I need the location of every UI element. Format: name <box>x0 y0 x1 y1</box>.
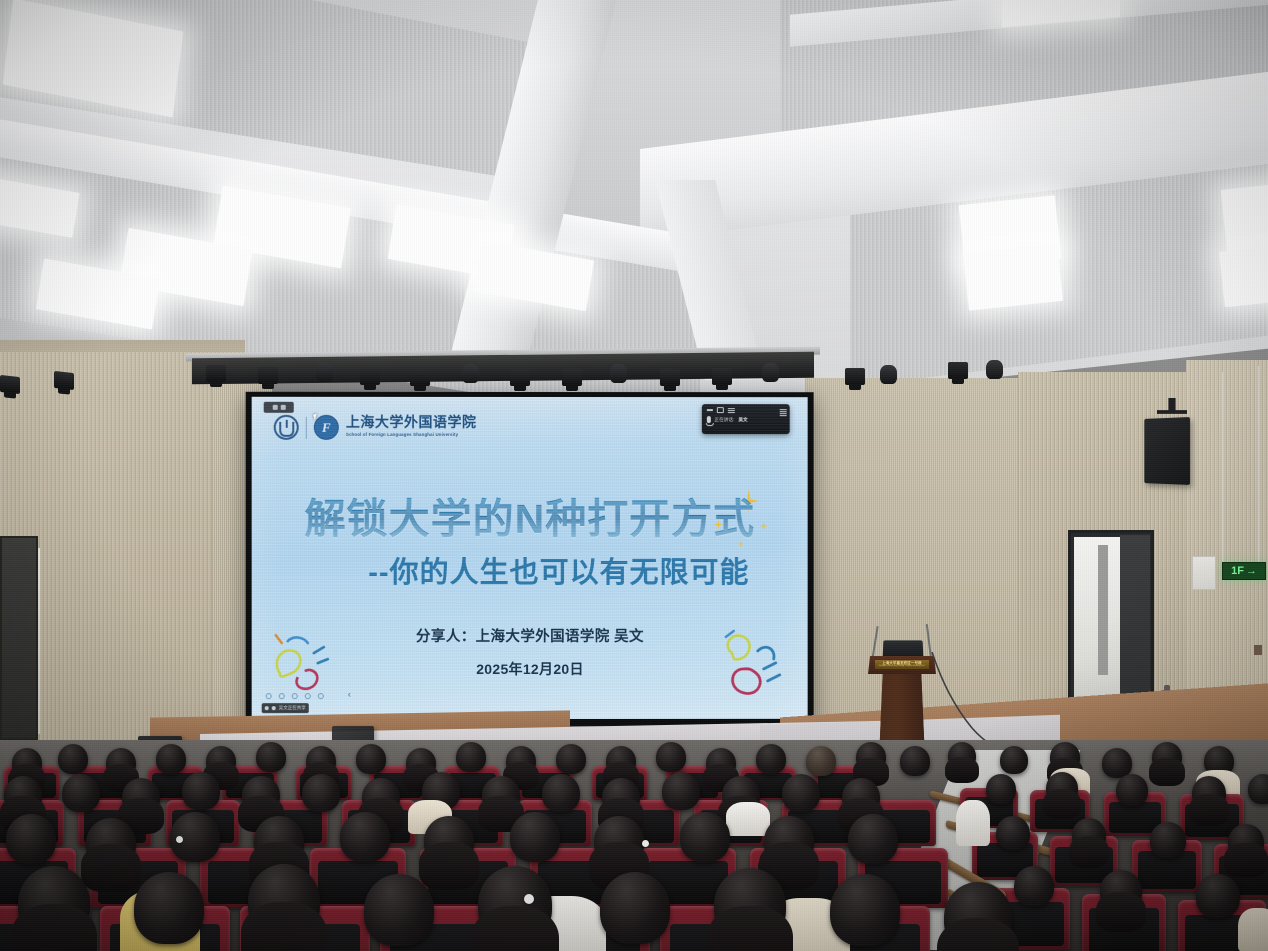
audience-head <box>756 744 786 774</box>
wall-access-plate <box>1192 556 1216 590</box>
audience-head <box>600 872 670 944</box>
audience-head <box>356 744 386 774</box>
exit-sign-arrow-icon: → <box>1246 566 1257 577</box>
hanging-wire <box>1222 372 1223 564</box>
meeting-control-overlay[interactable]: 正在讲话: 吴文 <box>702 404 790 434</box>
exit-sign: 1F → <box>1222 562 1266 580</box>
audience-head <box>62 774 100 812</box>
slide-tool-icon[interactable] <box>266 693 272 699</box>
podium-laptop <box>883 640 924 657</box>
audience-head <box>714 868 786 942</box>
audience-head <box>306 746 336 776</box>
stage-spotlight <box>948 362 968 379</box>
audience-head <box>106 748 136 778</box>
audience-head <box>58 744 88 774</box>
meeting-window-controls[interactable] <box>702 404 790 413</box>
badge-square-icon <box>272 405 277 410</box>
audience-head <box>680 812 730 862</box>
audience-head <box>242 776 280 814</box>
share-status-label: 吴文正在共享 <box>279 705 306 711</box>
layout-icon[interactable] <box>780 409 787 416</box>
audience-head <box>12 748 42 778</box>
microphone-icon <box>707 416 710 423</box>
audience-head <box>1014 866 1054 906</box>
audience-head <box>662 772 700 810</box>
logo-divider <box>306 416 307 438</box>
slide-bottom-icon-row[interactable] <box>266 693 324 699</box>
slide-subtitle: --你的人生也可以有无限可能 <box>252 549 808 591</box>
audience-head <box>948 742 976 770</box>
slide-tool-icon[interactable] <box>305 693 311 699</box>
stage-spotlight <box>0 375 20 394</box>
audience-head <box>996 816 1030 850</box>
speaking-person-name: 吴文 <box>738 417 747 423</box>
audience-head <box>362 778 400 816</box>
exit-sign-floor-label: 1F <box>1231 566 1244 577</box>
slide-share-status-bar: 吴文正在共享 <box>262 703 309 713</box>
stage-spotlight <box>880 365 897 384</box>
slide-tool-icon[interactable] <box>279 693 285 699</box>
slide-corner-badge <box>264 402 294 413</box>
stage-spotlight <box>54 371 74 390</box>
restore-window-icon[interactable] <box>717 407 724 413</box>
slide-main-title: 解锁大学的N种打开方式 <box>252 485 808 545</box>
ceiling-light-panel <box>1219 245 1268 308</box>
audience-head <box>18 866 90 940</box>
stage-spotlight <box>258 367 278 384</box>
hanging-wire <box>1258 366 1259 562</box>
slide-tool-icon[interactable] <box>318 693 324 699</box>
audience-head <box>4 776 42 814</box>
audience-head <box>602 778 640 816</box>
podium-nameplate: 上海大学嘉定校区一号楼 Shanghai University Jiading … <box>875 660 929 669</box>
audience-head <box>182 772 220 810</box>
door-right-inner-panel <box>1098 545 1108 675</box>
grid-view-icon[interactable] <box>728 407 735 413</box>
audience-head <box>1046 772 1078 804</box>
audience-head <box>424 816 474 866</box>
meeting-speaking-status: 正在讲话: 吴文 <box>702 413 790 426</box>
speaking-label: 正在讲话: <box>714 417 734 423</box>
audience-head <box>86 818 136 868</box>
shu-u-monogram-icon <box>274 415 299 440</box>
audience-head <box>806 746 836 776</box>
audience-head <box>1072 818 1106 852</box>
audience-head <box>1152 742 1182 772</box>
audience-head <box>594 816 644 866</box>
organization-name-block: 上海大学外国语学院 School of Foreign Languages Sh… <box>346 417 477 437</box>
audience-head <box>510 812 560 862</box>
stage-spotlight <box>510 369 530 386</box>
audience-head <box>506 746 536 776</box>
audience-head <box>122 778 160 816</box>
slide-prev-chevron-icon[interactable]: ‹ <box>348 690 351 699</box>
stage-spotlight <box>360 368 380 385</box>
share-dot-icon <box>265 706 269 710</box>
slide-canvas: 上海大学外国语学院 School of Foreign Languages Sh… <box>252 397 808 719</box>
audience-head <box>256 742 286 772</box>
hair-clip <box>642 840 649 847</box>
audience-head <box>830 874 900 946</box>
led-presentation-screen: 上海大学外国语学院 School of Foreign Languages Sh… <box>246 392 814 726</box>
audience-area <box>0 740 1268 951</box>
audience-head <box>340 812 390 862</box>
stage-spotlight <box>562 369 582 386</box>
wall-outlet <box>1254 645 1262 655</box>
audience-head <box>1196 874 1240 918</box>
audience-head <box>656 742 686 772</box>
audience-head <box>1116 774 1148 806</box>
audience-head <box>856 742 886 772</box>
stage-spotlight <box>986 360 1003 379</box>
organization-name-en: School of Foreign Languages Shanghai Uni… <box>346 433 477 437</box>
audience-head <box>206 746 236 776</box>
audience-head <box>302 774 340 812</box>
audience-head <box>782 774 820 812</box>
stage-spotlight <box>610 364 627 383</box>
audience-head <box>456 742 486 772</box>
lecture-hall-photo: 1F → 上海大学外国语学院 <box>0 0 1268 951</box>
stage-spotlight <box>316 363 333 382</box>
hair-clip <box>176 836 183 843</box>
stage-spotlight <box>712 368 732 385</box>
audience-head <box>542 774 580 812</box>
doodle-decoration-left <box>268 627 346 693</box>
stage-spotlight <box>660 369 680 386</box>
wall-speaker <box>1144 417 1190 485</box>
door-left[interactable] <box>0 536 38 740</box>
audience-head <box>1100 870 1142 912</box>
audience-head <box>482 776 520 814</box>
ceiling-light-panel <box>1221 183 1268 254</box>
audience-head <box>1228 824 1264 860</box>
audience-head <box>842 778 880 816</box>
audience-head <box>764 816 814 866</box>
audience-head <box>1000 746 1028 774</box>
stage-spotlight <box>845 368 865 385</box>
stage-spotlight <box>462 364 479 383</box>
audience-head <box>944 882 1012 951</box>
share-dot-icon <box>272 706 276 710</box>
audience-head <box>478 866 552 942</box>
minimize-icon[interactable] <box>707 409 713 411</box>
organization-name-cn: 上海大学外国语学院 <box>346 417 477 431</box>
audience-head <box>6 814 56 864</box>
hair-clip <box>524 894 534 904</box>
stage-spotlight <box>206 365 226 382</box>
audience-head <box>364 874 434 946</box>
audience-head <box>1248 774 1268 804</box>
audience-coat <box>956 800 990 846</box>
audience-head <box>248 864 320 938</box>
ceiling-light-panel <box>963 243 1063 310</box>
audience-head <box>156 744 186 774</box>
audience-coat <box>1238 908 1268 951</box>
audience-head <box>706 748 736 778</box>
slide-tool-icon[interactable] <box>292 693 298 699</box>
stage-spotlight <box>410 369 430 386</box>
audience-coat <box>726 802 770 836</box>
doodle-decoration-right <box>714 629 800 709</box>
organization-logo-lockup: 上海大学外国语学院 School of Foreign Languages Sh… <box>274 415 477 440</box>
badge-square-icon <box>280 405 285 410</box>
audience-head <box>900 746 930 776</box>
audience-head <box>134 872 204 944</box>
audience-head <box>254 816 304 866</box>
podium-nameplate-en: Shanghai University Jiading Campus Build… <box>879 665 926 667</box>
audience-head <box>1150 822 1186 858</box>
audience-head <box>848 814 898 864</box>
audience-head <box>556 744 586 774</box>
audience-head <box>606 746 636 776</box>
audience-head <box>1192 776 1226 810</box>
stage-spotlight <box>762 363 779 382</box>
audience-head <box>986 774 1016 804</box>
